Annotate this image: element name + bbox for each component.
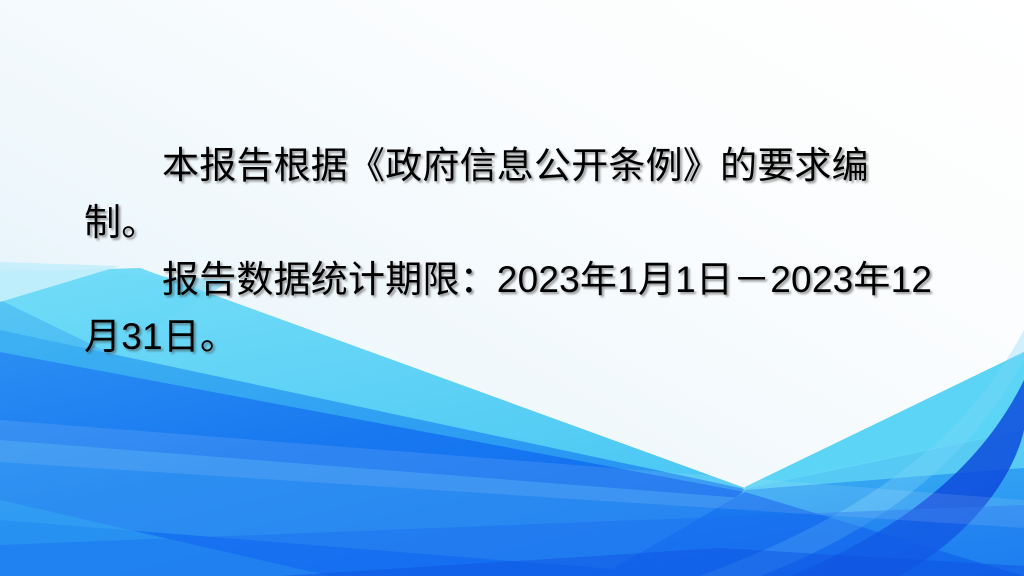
presentation-slide: 本报告根据《政府信息公开条例》的要求编制。 报告数据统计期限：2023年1月1日…: [0, 0, 1024, 576]
body-paragraph-1: 本报告根据《政府信息公开条例》的要求编制。: [84, 137, 940, 251]
body-paragraph-2: 报告数据统计期限：2023年1月1日－2023年12月31日。: [84, 251, 940, 365]
slide-body-textbox: 本报告根据《政府信息公开条例》的要求编制。 报告数据统计期限：2023年1月1日…: [84, 137, 940, 365]
